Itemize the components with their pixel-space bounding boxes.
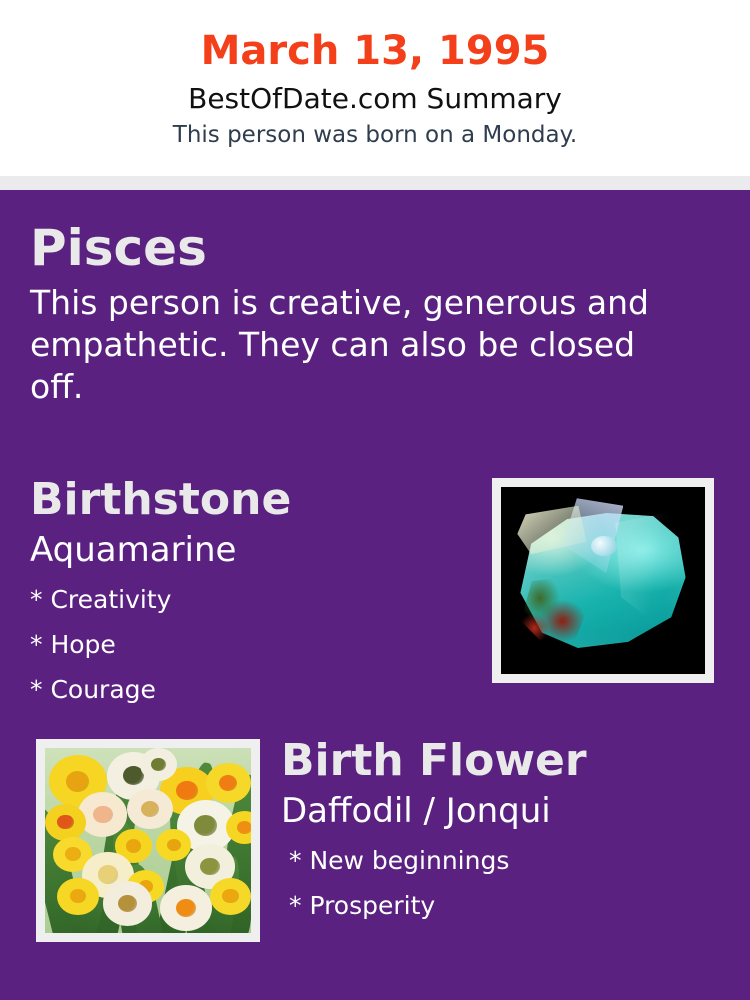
daffodil-bloom [156,829,191,860]
list-item: * Creativity [30,577,470,622]
zodiac-description: This person is creative, generous and em… [30,278,698,408]
list-item: * New beginnings [289,838,731,883]
daffodil-bloom [127,789,172,830]
birth-flower-heading: Birth Flower [281,734,731,788]
daffodil-corona [167,839,181,852]
daffodil-corona [151,758,166,771]
page-header: March 13, 1995 BestOfDate.com Summary Th… [0,0,750,176]
list-item: * Courage [30,667,470,712]
header-divider [0,176,750,190]
birthstone-heading: Birthstone [30,473,470,527]
daffodil-bloom [206,763,251,804]
daffodil-corona [93,806,113,824]
aquamarine-crystal-photo [501,487,705,674]
birthstone-image-frame [492,478,714,683]
birth-flower-section: Birth Flower Daffodil / Jonqui * New beg… [281,734,731,928]
daffodil-corona [219,775,237,791]
daffodil-corona [66,771,89,792]
daffodil-corona [176,781,197,800]
daffodil-corona [70,889,86,904]
daffodil-corona [176,899,197,918]
birth-day-of-week-note: This person was born on a Monday. [0,116,750,150]
daffodil-bloom [160,885,212,931]
page-title-date: March 13, 1995 [0,0,750,76]
birth-flower-image-frame [36,739,260,942]
daffodil-corona [65,847,81,861]
birthstone-section: Birthstone Aquamarine * Creativity * Hop… [30,473,470,712]
list-item: * Prosperity [289,883,731,928]
daffodil-bloom [57,878,98,915]
site-name-summary: BestOfDate.com Summary [0,76,750,116]
daffodil-bloom [78,792,127,836]
daffodil-bloom [210,878,251,915]
daffodil-bloom [103,881,152,925]
daffodil-corona [57,815,73,830]
summary-page: March 13, 1995 BestOfDate.com Summary Th… [0,0,750,1000]
zodiac-sign-name: Pisces [30,218,720,278]
daffodil-corona [141,801,159,817]
daffodil-corona [200,858,220,876]
birth-flower-name: Daffodil / Jonqui [281,788,731,832]
daffodil-corona [222,889,238,904]
daffodil-bloom [140,748,177,781]
zodiac-section: Pisces This person is creative, generous… [30,218,720,408]
daffodil-corona [194,815,217,836]
birth-flower-trait-list: * New beginnings * Prosperity [281,832,731,928]
birthstone-trait-list: * Creativity * Hope * Courage [30,571,470,712]
daffodil-field-photo [45,748,251,933]
list-item: * Hope [30,622,470,667]
daffodil-bloom [45,804,86,841]
daffodil-corona [126,839,141,852]
daffodil-corona [98,865,119,884]
daffodil-corona [118,895,138,913]
birthstone-name: Aquamarine [30,527,470,571]
daffodil-corona [237,821,251,834]
